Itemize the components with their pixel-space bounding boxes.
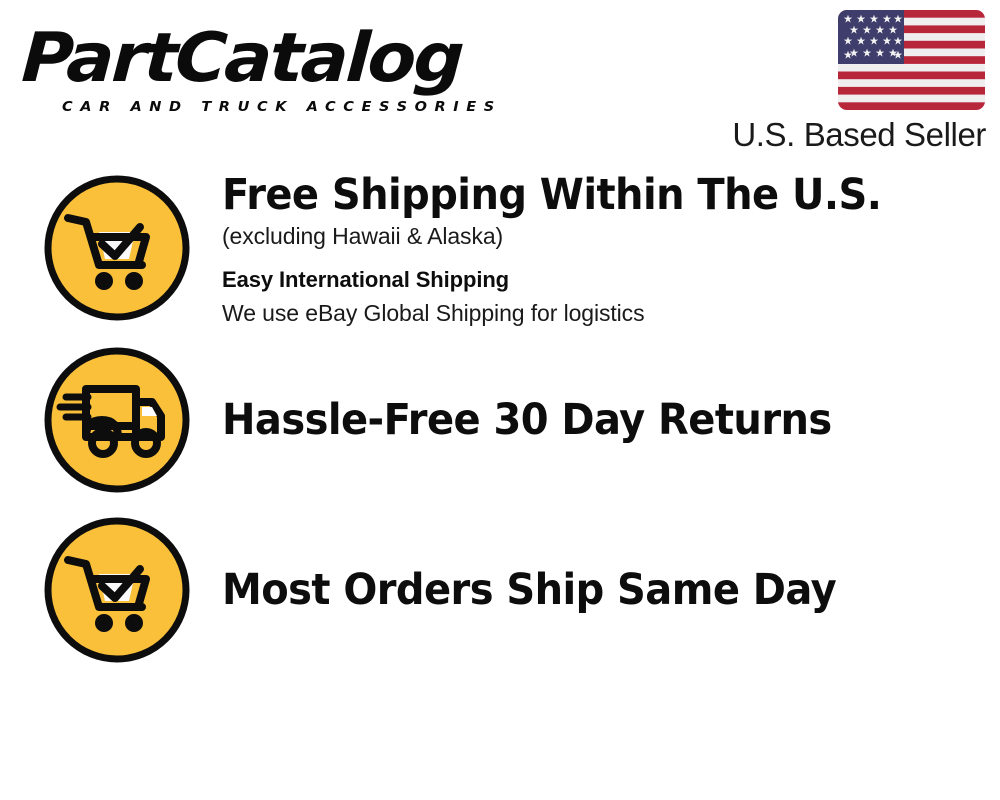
feature-sub-detail: We use eBay Global Shipping for logistic… xyxy=(222,297,982,330)
us-based-seller-label: U.S. Based Seller xyxy=(732,116,986,154)
delivery-truck-icon xyxy=(42,345,192,495)
shopping-cart-check-icon xyxy=(42,173,192,323)
shopping-cart-check-icon xyxy=(42,515,192,665)
brand-tagline: CAR AND TRUCK ACCESSORIES xyxy=(62,100,502,115)
feature-text-block: Free Shipping Within The U.S. (excluding… xyxy=(222,166,982,330)
feature-headline: Free Shipping Within The U.S. xyxy=(222,170,929,220)
feature-subline: (excluding Hawaii & Alaska) xyxy=(222,220,982,253)
feature-headline: Hassle-Free 30 Day Returns xyxy=(222,395,832,445)
feature-text-block: Most Orders Ship Same Day xyxy=(222,515,982,665)
feature-text-block: Hassle-Free 30 Day Returns xyxy=(222,345,982,495)
us-flag-icon xyxy=(838,10,985,110)
feature-headline: Most Orders Ship Same Day xyxy=(222,565,836,615)
feature-sub-heading: Easy International Shipping xyxy=(222,263,982,297)
brand-wordmark: PartCatalog xyxy=(20,22,464,96)
brand-logo: PartCatalog CAR AND TRUCK ACCESSORIES xyxy=(24,22,494,114)
